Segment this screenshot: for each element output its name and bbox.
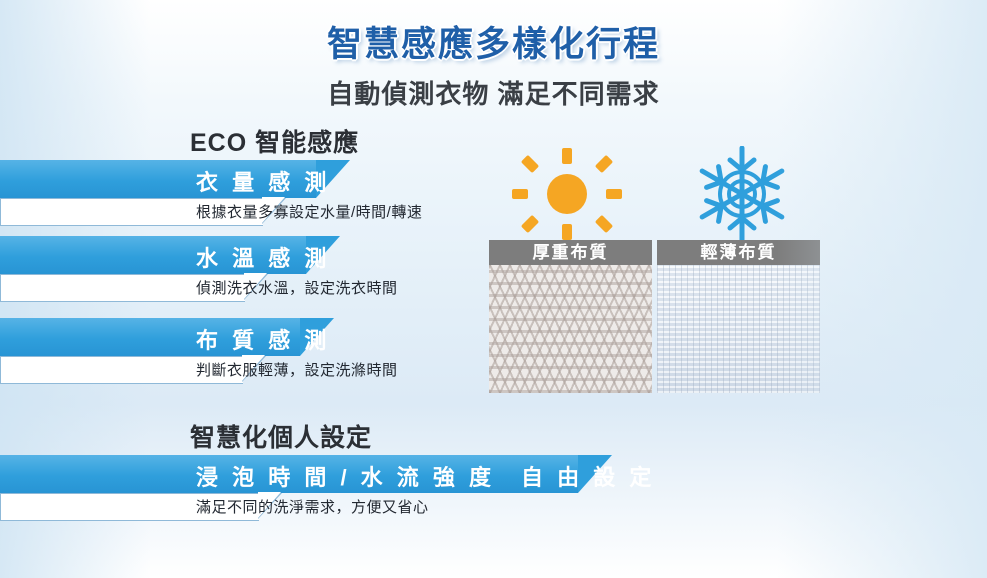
caption-row-clothing-sensor: 根據衣量多寡設定水量/時間/轉速 [0, 198, 470, 224]
caption-text-fabric-sensor: 判斷衣服輕薄，設定洗滌時間 [196, 359, 398, 380]
band-label-fabric-sensor: 布 質 感 測 [196, 323, 330, 355]
band-label-clothing-sensor: 衣 量 感 測 [196, 165, 330, 197]
band-row-clothing-sensor: 衣 量 感 測 [0, 160, 460, 198]
caption-row-fabric-sensor: 判斷衣服輕薄，設定洗滌時間 [0, 356, 460, 382]
band-row-water-temp-sensor: 水 溫 感 測 [0, 236, 450, 274]
caption-text-clothing-sensor: 根據衣量多寡設定水量/時間/轉速 [196, 201, 422, 222]
page-title: 智慧感應多樣化行程 [0, 16, 987, 67]
snowflake-icon [690, 146, 794, 242]
band-row-personal-settings: 浸 泡 時 間 / 水 流 強 度 自 由 設 定 [0, 455, 640, 493]
section-heading-eco: ECO 智能感應 [190, 123, 359, 159]
page-subtitle: 自動偵測衣物 滿足不同需求 [0, 74, 987, 111]
band-label-personal-settings: 浸 泡 時 間 / 水 流 強 度 自 由 設 定 [196, 460, 655, 492]
caption-row-water-temp-sensor: 偵測洗衣水溫，設定洗衣時間 [0, 274, 460, 300]
photo-thick-fabric: 厚重布質 [489, 240, 652, 393]
caption-row-personal-settings: 滿足不同的洗淨需求，方便又省心 [0, 493, 500, 519]
section-heading-personal: 智慧化個人設定 [190, 418, 372, 454]
thin-fabric-image [657, 265, 820, 393]
caption-text-personal-settings: 滿足不同的洗淨需求，方便又省心 [196, 496, 429, 517]
photo-label-thin-fabric: 輕薄布質 [657, 240, 820, 265]
band-label-water-temp-sensor: 水 溫 感 測 [196, 241, 330, 273]
poster-background: 智慧感應多樣化行程 自動偵測衣物 滿足不同需求 ECO 智能感應 衣 量 感 測… [0, 0, 987, 578]
photo-thin-fabric: 輕薄布質 [657, 240, 820, 393]
caption-text-water-temp-sensor: 偵測洗衣水溫，設定洗衣時間 [196, 277, 398, 298]
sun-icon [512, 148, 622, 240]
thick-fabric-image [489, 265, 652, 393]
band-row-fabric-sensor: 布 質 感 測 [0, 318, 450, 356]
photo-label-thick-fabric: 厚重布質 [489, 240, 652, 265]
